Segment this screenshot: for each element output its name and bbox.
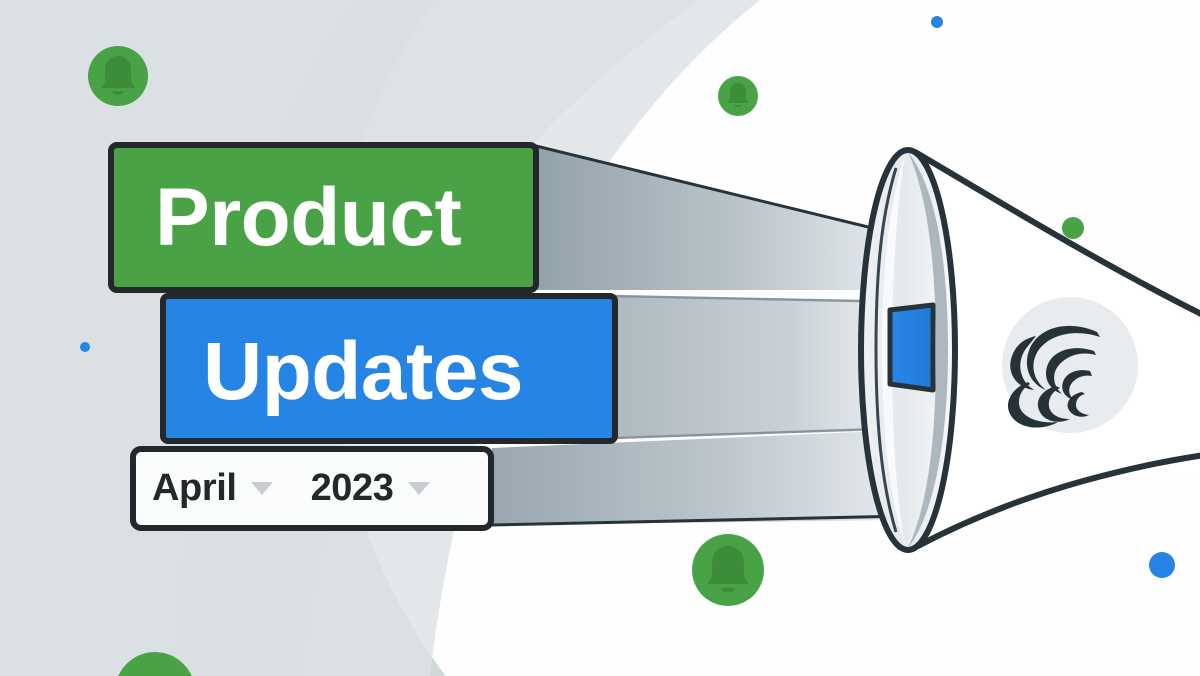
brand-logo-badge (1002, 297, 1138, 433)
date-selector: April 2023 (152, 458, 472, 518)
month-dropdown[interactable]: April (152, 467, 273, 510)
heading-updates: Updates (203, 322, 583, 422)
product-updates-banner: Product Updates April 2023 (0, 0, 1200, 676)
dot-blue-bottom-right (1149, 552, 1175, 578)
dot-blue-left (80, 342, 90, 352)
banner-illustration (0, 0, 1200, 676)
bell-badge-bottom-center (692, 534, 764, 606)
chevron-down-icon[interactable] (251, 482, 273, 495)
chevron-down-icon[interactable] (408, 482, 430, 495)
dot-green-on-stroke (1062, 217, 1084, 239)
megaphone-blue-panel (890, 305, 933, 390)
month-value: April (152, 467, 237, 510)
year-dropdown[interactable]: 2023 (311, 467, 430, 510)
dot-blue-top-right (931, 16, 943, 28)
bell-badge-top-left (88, 46, 148, 106)
year-value: 2023 (311, 467, 394, 510)
heading-product: Product (155, 168, 515, 268)
bell-badge-top-center (718, 76, 758, 116)
